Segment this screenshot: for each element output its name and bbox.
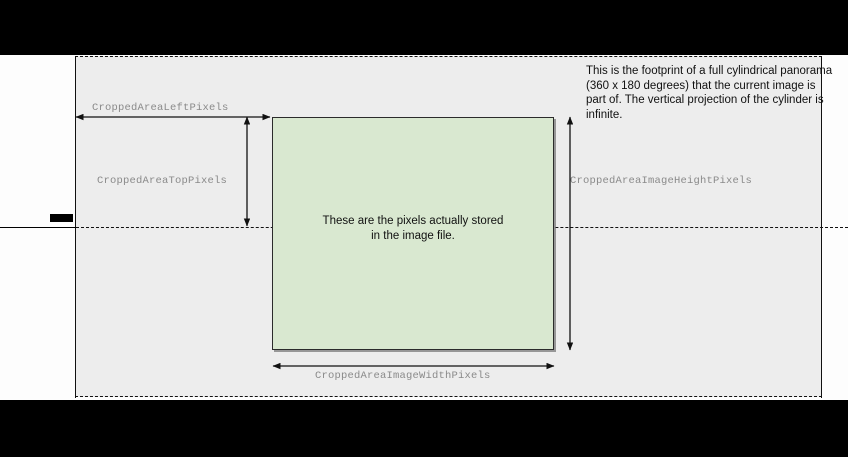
label-cropped-area-top-pixels: CroppedAreaTopPixels (97, 175, 227, 187)
panorama-bottom-edge (75, 396, 822, 397)
panorama-footprint-note: This is the footprint of a full cylindri… (586, 64, 834, 122)
label-cropped-area-left-pixels: CroppedAreaLeftPixels (92, 102, 229, 114)
stored-image-caption: These are the pixels actually stored in … (272, 214, 554, 244)
diagram-canvas: These are the pixels actually stored in … (0, 0, 848, 457)
horizon-line-solid (0, 227, 76, 228)
panorama-top-edge (75, 56, 822, 57)
label-cropped-area-image-width-pixels: CroppedAreaImageWidthPixels (315, 370, 491, 382)
horizon-marker-icon (50, 214, 73, 222)
label-cropped-area-image-height-pixels: CroppedAreaImageHeightPixels (570, 175, 752, 187)
